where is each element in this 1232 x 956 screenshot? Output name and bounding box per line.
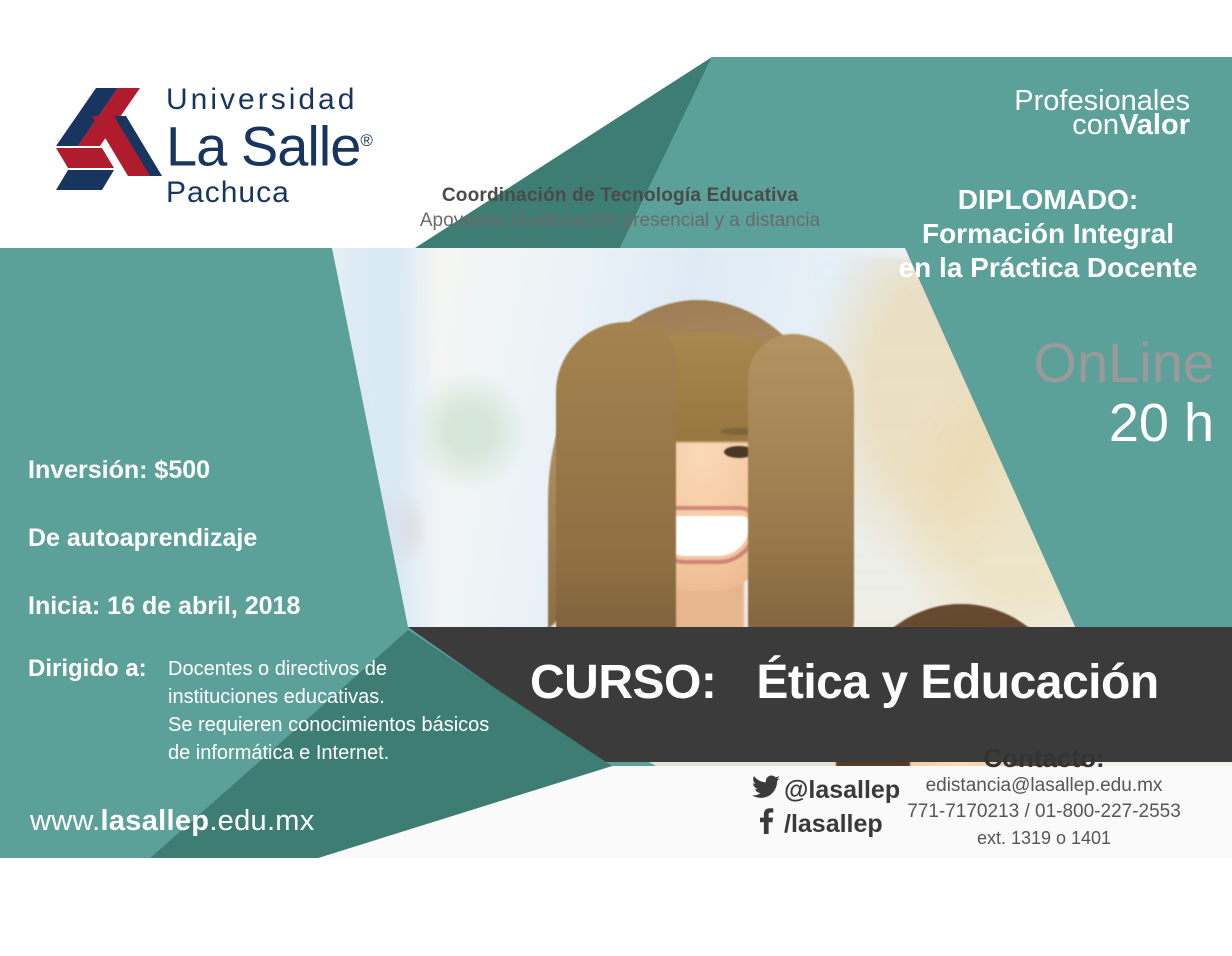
twitter-handle: @lasallep xyxy=(784,776,900,805)
course-name: Ética y Educación xyxy=(756,656,1158,709)
contact-phones: 771-7170213 / 01-800-227-2553 xyxy=(894,799,1194,825)
audience-line-2: instituciones educativas. xyxy=(168,683,498,711)
audience-line-3: Se requieren conocimientos básicos xyxy=(168,711,498,739)
program-label: DIPLOMADO: xyxy=(878,183,1218,217)
brand-tagline: Profesionales conValor xyxy=(1014,86,1190,140)
course-title-block: CURSO:Ética y Educación xyxy=(530,655,1159,710)
logo-lasalle: La Salle® xyxy=(166,114,372,174)
twitter-bird-icon xyxy=(752,775,784,806)
registered-mark: ® xyxy=(360,131,372,150)
contact-block: Contacto: edistancia@lasallep.edu.mx 771… xyxy=(894,743,1194,851)
course-details: Inversión: $500 De autoaprendizaje Inici… xyxy=(28,455,300,621)
tagline-valor: Valor xyxy=(1119,109,1190,141)
twitter-row[interactable]: @lasallep xyxy=(752,773,900,807)
modality-online: OnLine xyxy=(1033,334,1214,392)
website-prefix: www. xyxy=(30,805,101,837)
coordination-title: Coordinación de Tecnología Educativa xyxy=(330,184,910,208)
program-line-2: en la Práctica Docente xyxy=(878,251,1218,285)
logo-universidad: Universidad xyxy=(166,84,372,116)
tagline-con: con xyxy=(1072,109,1119,141)
woman-hair-right xyxy=(748,334,854,664)
audience-heading: Dirigido a: xyxy=(28,655,147,683)
la-salle-triangle-emblem-icon xyxy=(44,86,164,194)
modality-hours: 20 h xyxy=(1033,394,1214,452)
page-bottom-margin xyxy=(0,858,1232,956)
website-name: lasallep xyxy=(101,805,210,837)
program-line-1: Formación Integral xyxy=(878,217,1218,251)
coordination-header: Coordinación de Tecnología Educativa Apo… xyxy=(330,184,910,234)
website-suffix: .edu.mx xyxy=(209,805,314,837)
facebook-f-icon xyxy=(752,808,784,841)
social-links: @lasallep /lasallep xyxy=(752,773,900,841)
program-title: DIPLOMADO: Formación Integral en la Prác… xyxy=(878,183,1218,285)
detail-investment: Inversión: $500 xyxy=(28,455,300,485)
contact-email[interactable]: edistancia@lasallep.edu.mx xyxy=(894,773,1194,799)
detail-modality: De autoaprendizaje xyxy=(28,523,300,553)
modality-block: OnLine 20 h xyxy=(1033,334,1214,452)
coordination-subtitle: Apoyando la educación presencial y a dis… xyxy=(330,208,910,234)
audience-line-1: Docentes o directivos de xyxy=(168,655,498,683)
facebook-handle: /lasallep xyxy=(784,810,883,839)
poster-canvas: Universidad La Salle® Pachuca Coordinaci… xyxy=(0,0,1232,956)
course-label: CURSO: xyxy=(530,656,716,709)
facebook-row[interactable]: /lasallep xyxy=(752,807,900,841)
page-top-margin xyxy=(0,0,1232,57)
audience-block: Dirigido a: Docentes o directivos de ins… xyxy=(28,655,498,767)
detail-start-date: Inicia: 16 de abril, 2018 xyxy=(28,591,300,621)
contact-heading: Contacto: xyxy=(894,743,1194,773)
contact-extension: ext. 1319 o 1401 xyxy=(894,825,1194,851)
audience-line-4: de informática e Internet. xyxy=(168,739,498,767)
website-url[interactable]: www.lasallep.edu.mx xyxy=(30,805,315,838)
